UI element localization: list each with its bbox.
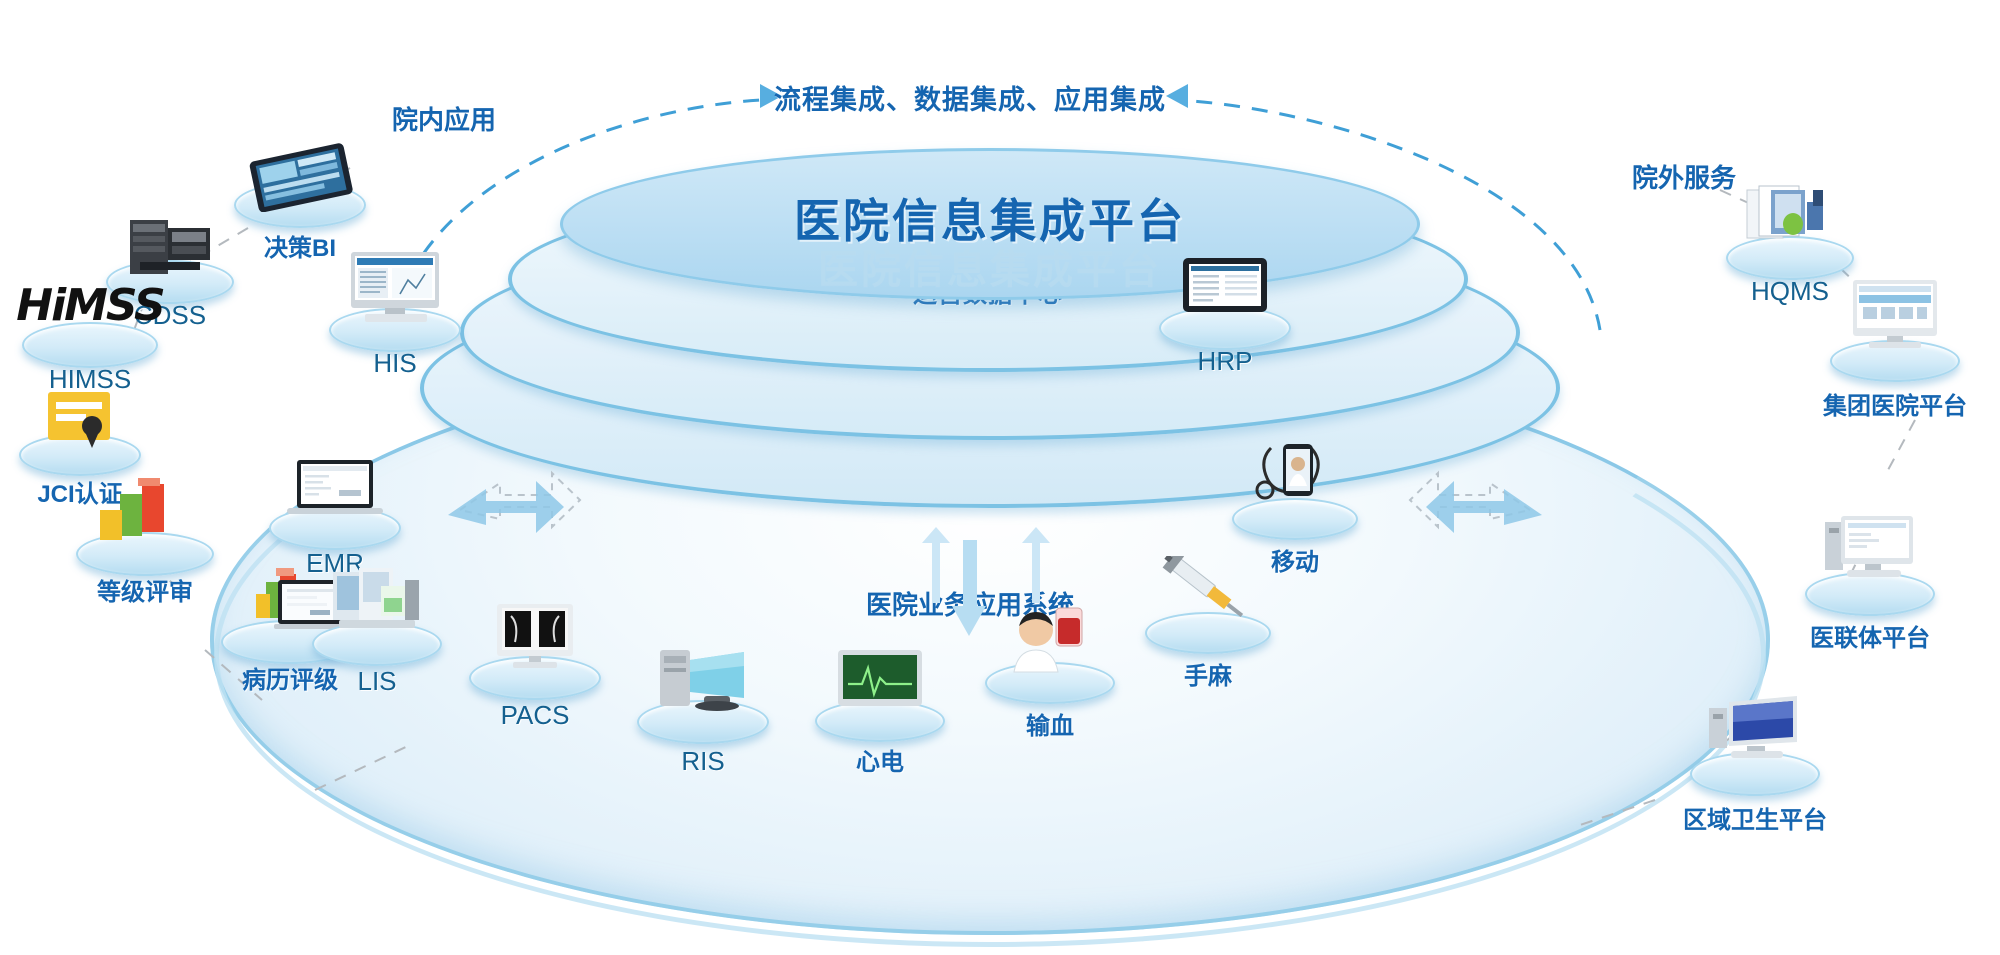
group-header-inside: 院内应用 xyxy=(392,100,496,137)
tablet-icon xyxy=(241,142,359,217)
node-lis[interactable]: LIS xyxy=(292,562,462,682)
node-group-hospital-label: 集团医院平台 xyxy=(1823,386,1967,421)
node-transfusion[interactable]: 输血 xyxy=(960,600,1140,720)
node-regional[interactable]: 区域卫生平台 xyxy=(1655,690,1855,820)
node-pacs[interactable]: PACS xyxy=(440,600,630,720)
blood-bag-doctor-icon xyxy=(998,604,1102,681)
lab-analyzer-icon xyxy=(321,564,433,643)
node-ris-label: RIS xyxy=(681,746,724,777)
exchange-arrows-right-icon xyxy=(1390,455,1550,565)
node-hrp[interactable]: HRP xyxy=(1135,250,1315,370)
node-ris[interactable]: RIS xyxy=(608,640,798,760)
node-himss[interactable]: HiMSS HIMSS xyxy=(10,278,170,388)
node-emr[interactable]: EMR xyxy=(250,450,420,570)
node-ecg-label: 心电 xyxy=(856,742,904,777)
node-mobile[interactable]: 移动 xyxy=(1205,440,1385,560)
syringe-icon xyxy=(1155,556,1261,627)
tower-pc-icon xyxy=(648,646,758,721)
documents-icon xyxy=(1737,184,1843,255)
smartphone-stethoscope-icon xyxy=(1245,440,1345,519)
node-lis-label: LIS xyxy=(357,666,396,697)
node-ecg[interactable]: 心电 xyxy=(790,640,970,760)
laptop-icon xyxy=(283,458,387,525)
node-pacs-label: PACS xyxy=(501,700,570,731)
certificate-icon xyxy=(36,388,124,457)
server-icon xyxy=(120,214,220,283)
node-grade-label: 等级评审 xyxy=(97,572,193,607)
node-anesthesia-label: 手麻 xyxy=(1184,656,1232,691)
node-alliance[interactable]: 医联体平台 xyxy=(1770,510,1970,640)
bar-chart-icon xyxy=(90,476,200,553)
monitor-portal-icon xyxy=(1843,278,1947,359)
desktop-monitor-icon xyxy=(345,250,445,331)
tablet-dark-icon xyxy=(1175,256,1275,323)
node-his[interactable]: HIS xyxy=(315,250,475,370)
integration-flow-label: 流程集成、数据集成、应用集成 xyxy=(770,78,1170,117)
node-hrp-label: HRP xyxy=(1198,346,1253,377)
diagram-canvas: 流程集成、数据集成、应用集成 基础数据中心 临床数据中心 运营数据中心 医院信息… xyxy=(0,0,2000,955)
node-transfusion-label: 输血 xyxy=(1026,706,1074,741)
node-his-label: HIS xyxy=(373,348,416,379)
ecg-monitor-icon xyxy=(832,648,928,717)
node-group-hospital[interactable]: 集团医院平台 xyxy=(1790,278,2000,408)
monitor-pc-icon xyxy=(1815,512,1925,589)
node-regional-label: 区域卫生平台 xyxy=(1683,800,1827,835)
exchange-arrows-left-icon xyxy=(440,455,600,565)
himss-logo-icon: HiMSS xyxy=(16,280,164,331)
monitor-blue-icon xyxy=(1701,694,1809,769)
node-mobile-label: 移动 xyxy=(1271,542,1319,577)
node-bi[interactable]: 决策BI xyxy=(230,132,370,242)
node-alliance-label: 医联体平台 xyxy=(1810,618,1930,653)
xray-monitor-icon xyxy=(485,602,585,677)
